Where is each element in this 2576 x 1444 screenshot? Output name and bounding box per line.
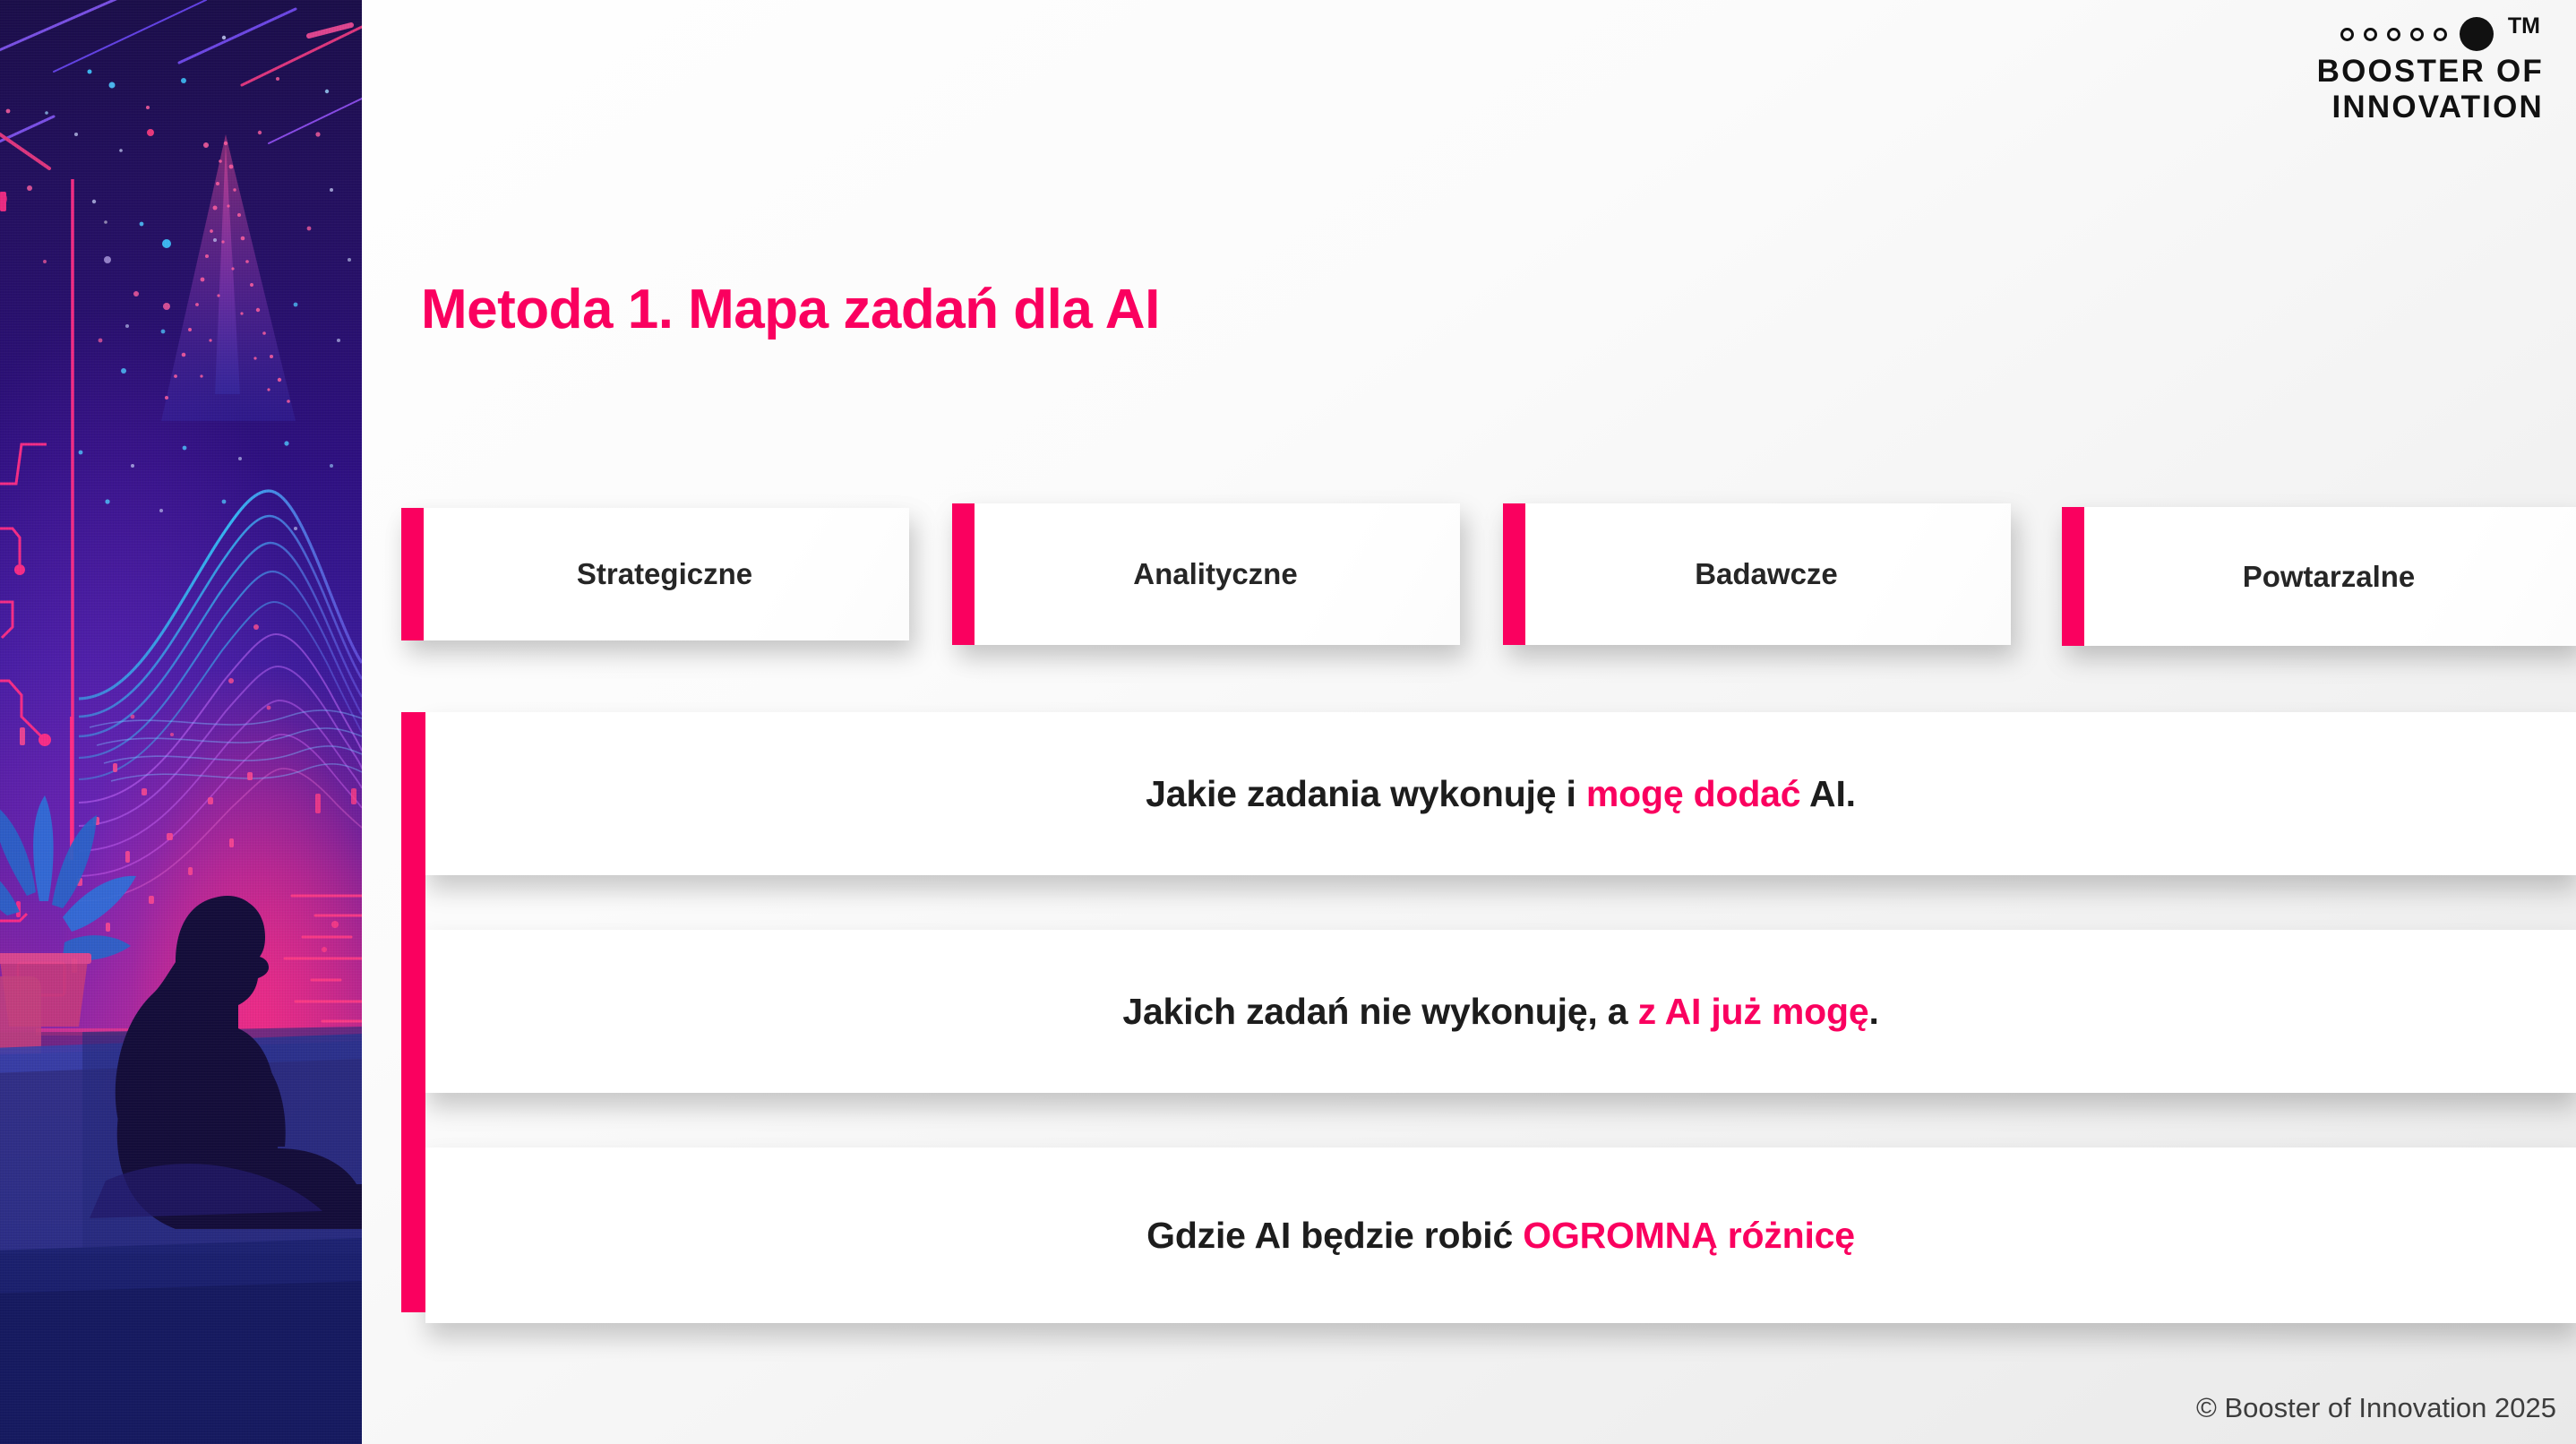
statement-row[interactable]: Jakich zadań nie wykonuję, a z AI już mo…: [425, 930, 2576, 1093]
statement-text: Jakich zadań nie wykonuję, a z AI już mo…: [1122, 991, 1878, 1033]
category-card-label: Analityczne: [975, 557, 1460, 591]
category-card-label: Strategiczne: [424, 557, 909, 591]
statement-row-group: Jakie zadania wykonuję i mogę dodać AI. …: [401, 712, 2560, 1312]
statement-plain: Jakie zadania wykonuję i: [1146, 773, 1586, 814]
statement-plain: .: [1868, 991, 1878, 1032]
copyright-footer: © Booster of Innovation 2025: [2196, 1392, 2556, 1424]
category-card-strategiczne[interactable]: Strategiczne: [401, 508, 909, 640]
statement-highlight: z AI już mogę: [1638, 991, 1869, 1032]
category-card-powtarzalne[interactable]: Powtarzalne: [2062, 507, 2576, 646]
statement-highlight: OGROMNĄ różnicę: [1523, 1215, 1855, 1256]
card-accent-bar: [1503, 503, 1525, 645]
category-card-badawcze[interactable]: Badawcze: [1503, 503, 2011, 645]
card-accent-bar: [952, 503, 975, 645]
slide-root: TM BOOSTER OF INNOVATION Metoda 1. Mapa …: [0, 0, 2576, 1444]
statement-highlight: mogę dodać: [1586, 773, 1800, 814]
statement-plain: AI.: [1800, 773, 1855, 814]
statement-accent-bar: [401, 712, 425, 1312]
category-card-label: Badawcze: [1525, 557, 2011, 591]
statement-plain: Jakich zadań nie wykonuję, a: [1122, 991, 1637, 1032]
card-accent-bar: [401, 508, 424, 640]
card-accent-bar: [2062, 507, 2084, 646]
statement-row[interactable]: Jakie zadania wykonuję i mogę dodać AI.: [425, 712, 2576, 875]
statement-plain: Gdzie AI będzie robić: [1146, 1215, 1523, 1256]
statement-text: Jakie zadania wykonuję i mogę dodać AI.: [1146, 773, 1856, 815]
statement-row[interactable]: Gdzie AI będzie robić OGROMNĄ różnicę: [425, 1147, 2576, 1323]
category-card-label: Powtarzalne: [2084, 560, 2576, 594]
category-card-analityczne[interactable]: Analityczne: [952, 503, 1460, 645]
statement-text: Gdzie AI będzie robić OGROMNĄ różnicę: [1146, 1215, 1855, 1257]
